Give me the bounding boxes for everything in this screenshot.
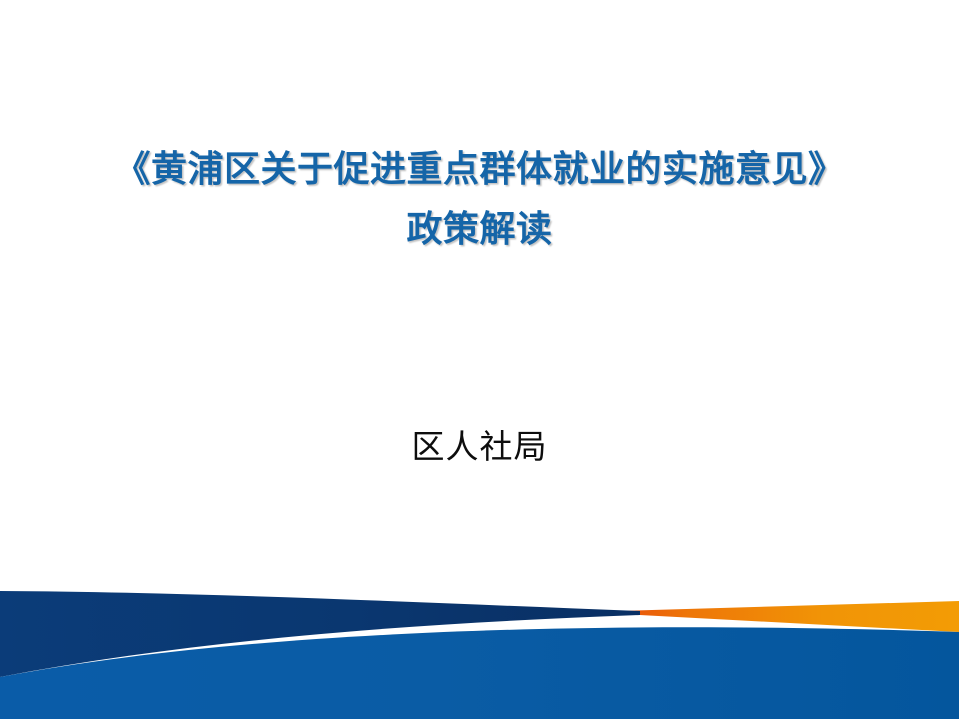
title-line-1: 《黄浦区关于促进重点群体就业的实施意见》 (0, 152, 959, 188)
title-line-2: 政策解读 (0, 212, 959, 248)
orange-wedge-shape (620, 601, 959, 632)
bottom-wave-decoration (0, 559, 959, 719)
dark-blue-wave-shape (0, 591, 640, 677)
blue-wave-shape (0, 627, 959, 719)
presentation-slide: 《黄浦区关于促进重点群体就业的实施意见》 政策解读 区人社局 (0, 0, 959, 719)
wave-graphic (0, 559, 959, 719)
slide-title: 《黄浦区关于促进重点群体就业的实施意见》 政策解读 (0, 152, 959, 248)
subtitle-text: 区人社局 (412, 427, 548, 466)
slide-subtitle: 区人社局 (0, 420, 959, 468)
